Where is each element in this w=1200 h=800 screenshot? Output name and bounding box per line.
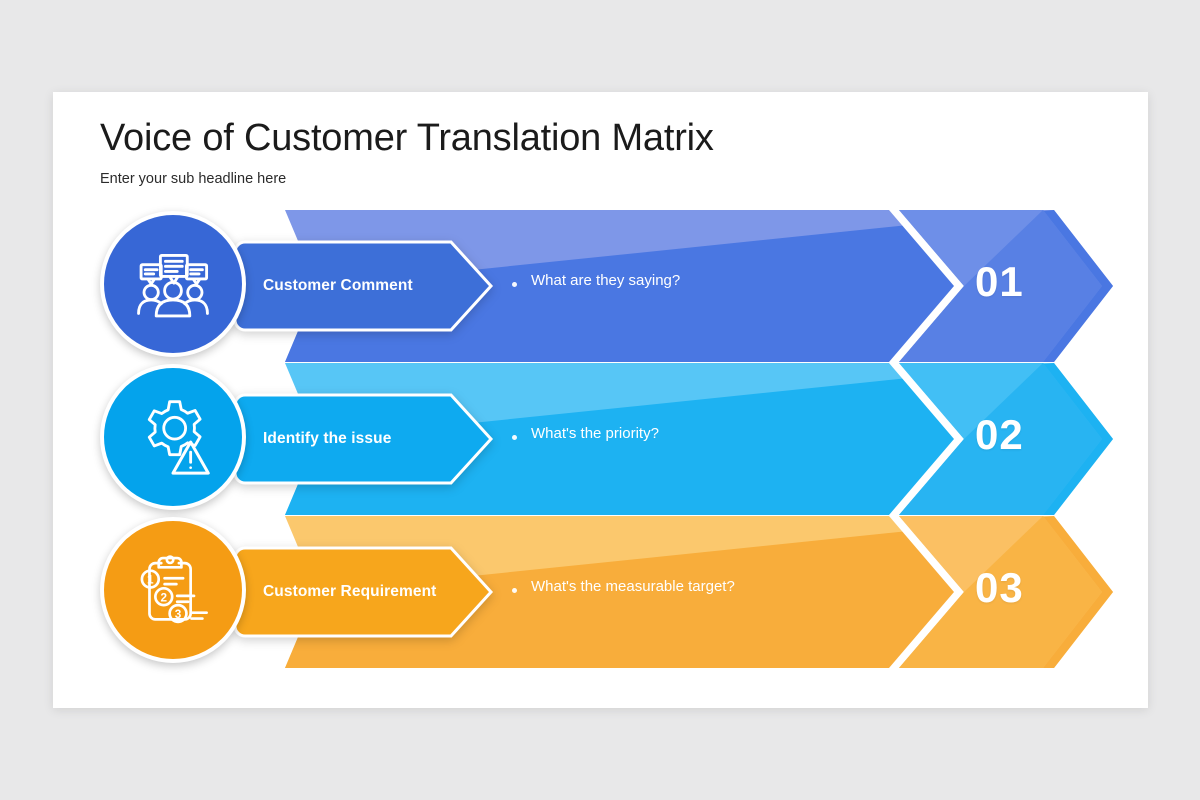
bullet-point-marker [512,435,517,440]
clipboard-numbered-list-icon: 1 2 3 [131,548,215,632]
process-row[interactable]: Identify the issue What's the priority? … [53,363,1148,515]
people-chat-icon [131,242,215,326]
gear-warning-icon [131,395,215,479]
row-icon-badge[interactable] [100,364,246,510]
bullet-point-marker [512,282,517,287]
bullet-point-marker [512,588,517,593]
bullet-point-text: What's the priority? [531,425,659,442]
step-number: 01 [975,258,1024,306]
row-label-text: Identify the issue [263,393,478,485]
row-icon-badge[interactable] [100,211,246,357]
bullet-point-text: What are they saying? [531,272,680,289]
slide-card: Voice of Customer Translation Matrix Ent… [53,92,1148,708]
svg-text:2: 2 [160,591,167,604]
process-rows: Customer Comment What are they saying? 0… [53,92,1148,708]
process-row[interactable]: 1 2 3 Customer [53,516,1148,668]
step-number: 02 [975,411,1024,459]
bullet-point-text: What's the measurable target? [531,578,735,595]
process-row[interactable]: Customer Comment What are they saying? 0… [53,210,1148,362]
row-icon-badge[interactable]: 1 2 3 [100,517,246,663]
svg-text:3: 3 [175,608,182,621]
step-number: 03 [975,564,1024,612]
svg-text:1: 1 [147,574,154,587]
row-label-text: Customer Requirement [263,546,478,638]
row-label-text: Customer Comment [263,240,478,332]
slide-stage: Voice of Customer Translation Matrix Ent… [0,0,1200,800]
